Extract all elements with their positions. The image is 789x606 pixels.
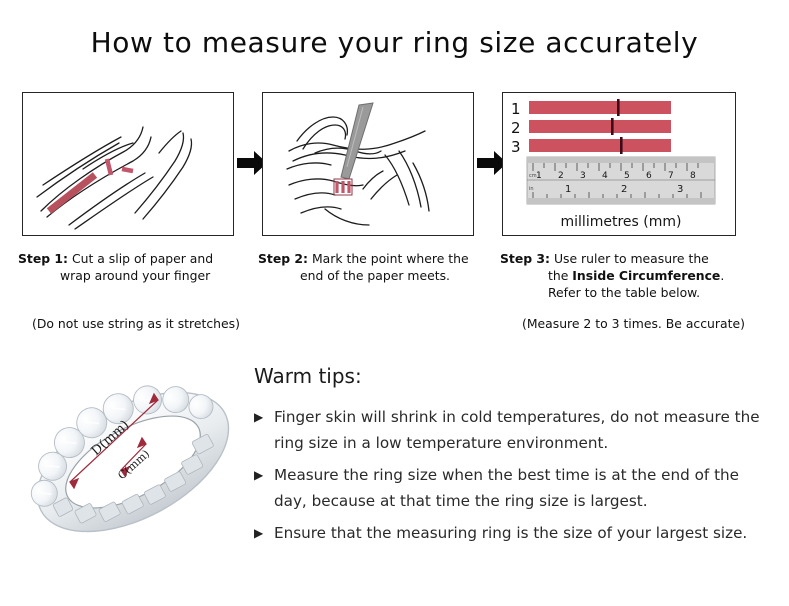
step-3-line2-post: . bbox=[720, 268, 724, 283]
step-2-line2: end of the paper meets. bbox=[258, 267, 486, 284]
paper-strip-3 bbox=[529, 139, 671, 152]
warm-tip-text-3: Ensure that the measuring ring is the si… bbox=[274, 520, 774, 546]
strip-mark-3 bbox=[620, 137, 623, 154]
paper-strip-2 bbox=[529, 120, 671, 133]
svg-text:3: 3 bbox=[580, 171, 586, 181]
ruler-unit-caption: millimetres (mm) bbox=[561, 214, 682, 230]
svg-text:2: 2 bbox=[621, 184, 627, 195]
warm-tips-section: Warm tips: ▶ Finger skin will shrink in … bbox=[254, 364, 774, 552]
svg-text:4: 4 bbox=[602, 171, 608, 181]
step-1-label: Step 1: bbox=[18, 251, 68, 266]
step-3-line2-pre: the bbox=[548, 268, 572, 283]
svg-text:5: 5 bbox=[624, 171, 630, 181]
ruler-graphic: 12 34 56 78 cm 123 in bbox=[527, 157, 715, 204]
step-3-label: Step 3: bbox=[500, 251, 550, 266]
step-1-caption: Step 1: Cut a slip of paper and wrap aro… bbox=[18, 250, 246, 284]
list-item: ▶ Ensure that the measuring ring is the … bbox=[254, 520, 774, 546]
warm-tip-text-2: Measure the ring size when the best time… bbox=[274, 462, 774, 514]
step-2-caption: Step 2: Mark the point where the end of … bbox=[258, 250, 486, 284]
hand-with-paper-strip-icon bbox=[23, 93, 233, 235]
strip-label-3: 3 bbox=[511, 138, 521, 156]
eternity-ring-photo-icon: D(mm) C(mm) bbox=[18, 352, 248, 570]
svg-text:6: 6 bbox=[646, 171, 652, 181]
svg-text:in: in bbox=[529, 186, 534, 192]
strip-mark-1 bbox=[617, 99, 620, 116]
step-1-illustration-panel bbox=[22, 92, 234, 236]
page-title: How to measure your ring size accurately bbox=[0, 26, 789, 59]
triangle-bullet-icon: ▶ bbox=[254, 520, 274, 546]
strip-label-1: 1 bbox=[511, 100, 521, 118]
svg-text:1: 1 bbox=[565, 184, 571, 195]
step-3-caption: Step 3: Use ruler to measure the the Ins… bbox=[500, 250, 750, 301]
warm-tip-text-1: Finger skin will shrink in cold temperat… bbox=[274, 404, 774, 456]
strip-mark-2 bbox=[611, 118, 614, 135]
triangle-bullet-icon: ▶ bbox=[254, 404, 274, 430]
step-1-line2: wrap around your finger bbox=[18, 267, 246, 284]
step-2-line1: Mark the point where the bbox=[312, 251, 469, 266]
hand-marking-with-pen-icon bbox=[263, 93, 473, 235]
ruler-with-strips-icon: 1 2 3 bbox=[503, 93, 735, 235]
step-3-line1: Use ruler to measure the bbox=[554, 251, 709, 266]
step-3-line2: the Inside Circumference. bbox=[500, 267, 750, 284]
paper-strip-1 bbox=[529, 101, 671, 114]
step-1-note: (Do not use string as it stretches) bbox=[32, 316, 240, 331]
svg-text:2: 2 bbox=[558, 171, 564, 181]
step-3-illustration-panel: 1 2 3 bbox=[502, 92, 736, 236]
step-2-illustration-panel bbox=[262, 92, 474, 236]
step-3-note: (Measure 2 to 3 times. Be accurate) bbox=[522, 316, 745, 331]
inside-circumference-emphasis: Inside Circumference bbox=[572, 268, 720, 283]
step-3-line3: Refer to the table below. bbox=[500, 284, 750, 301]
triangle-bullet-icon: ▶ bbox=[254, 462, 274, 488]
svg-text:1: 1 bbox=[536, 171, 542, 181]
list-item: ▶ Measure the ring size when the best ti… bbox=[254, 462, 774, 514]
step-1-line1: Cut a slip of paper and bbox=[72, 251, 213, 266]
step-2-label: Step 2: bbox=[258, 251, 308, 266]
ring-diagram: D(mm) C(mm) bbox=[18, 352, 248, 570]
warm-tips-heading: Warm tips: bbox=[254, 364, 774, 388]
svg-text:8: 8 bbox=[690, 171, 696, 181]
list-item: ▶ Finger skin will shrink in cold temper… bbox=[254, 404, 774, 456]
svg-text:7: 7 bbox=[668, 171, 674, 181]
svg-text:3: 3 bbox=[677, 184, 683, 195]
strip-label-2: 2 bbox=[511, 119, 521, 137]
svg-text:cm: cm bbox=[529, 173, 537, 179]
